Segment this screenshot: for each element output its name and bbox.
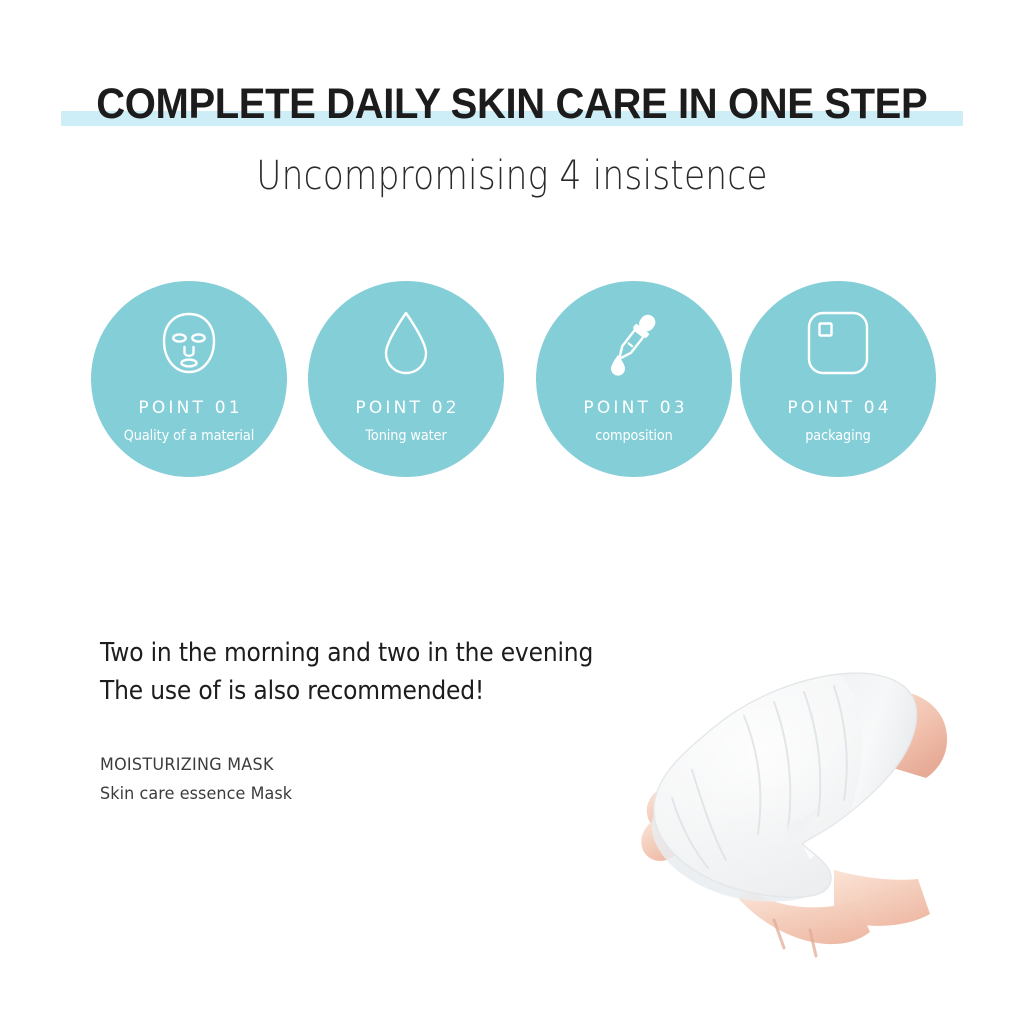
product-detail-page: COMPLETE DAILY SKIN CARE IN ONE STEP Unc… xyxy=(0,0,1024,1024)
point-desc-03: composition xyxy=(544,428,724,444)
point-label-02: POINT 02 xyxy=(308,398,504,418)
point-desc-02: Toning water xyxy=(316,428,496,444)
point-card-04[interactable]: POINT 04 packaging xyxy=(740,281,936,477)
product-name-block: MOISTURIZING MASK Skin care essence Mask xyxy=(100,757,520,803)
point-card-01[interactable]: POINT 01 Quality of a material xyxy=(91,281,287,477)
point-card-02[interactable]: POINT 02 Toning water xyxy=(308,281,504,477)
product-name: MOISTURIZING MASK xyxy=(100,757,495,774)
feature-points-row: POINT 01 Quality of a material POINT 02 … xyxy=(76,281,948,477)
point-label-01: POINT 01 xyxy=(91,398,287,418)
face-mask-icon xyxy=(91,305,287,381)
package-sachet-icon xyxy=(740,305,936,381)
point-label-04: POINT 04 xyxy=(740,398,936,418)
page-title: COMPLETE DAILY SKIN CARE IN ONE STEP xyxy=(97,80,928,128)
point-label-03: POINT 03 xyxy=(536,398,732,418)
header-section: COMPLETE DAILY SKIN CARE IN ONE STEP Unc… xyxy=(0,80,1024,198)
dropper-pipette-icon xyxy=(536,305,732,381)
hand-holding-sheet-mask-photo xyxy=(588,638,1008,988)
product-subtitle: Skin care essence Mask xyxy=(100,786,495,803)
title-wrapper: COMPLETE DAILY SKIN CARE IN ONE STEP xyxy=(61,80,963,128)
water-drop-icon xyxy=(308,305,504,381)
point-desc-04: packaging xyxy=(748,428,928,444)
point-desc-01: Quality of a material xyxy=(99,428,279,444)
point-card-03[interactable]: POINT 03 composition xyxy=(536,281,732,477)
page-subtitle: Uncompromising 4 insistence xyxy=(72,154,953,198)
